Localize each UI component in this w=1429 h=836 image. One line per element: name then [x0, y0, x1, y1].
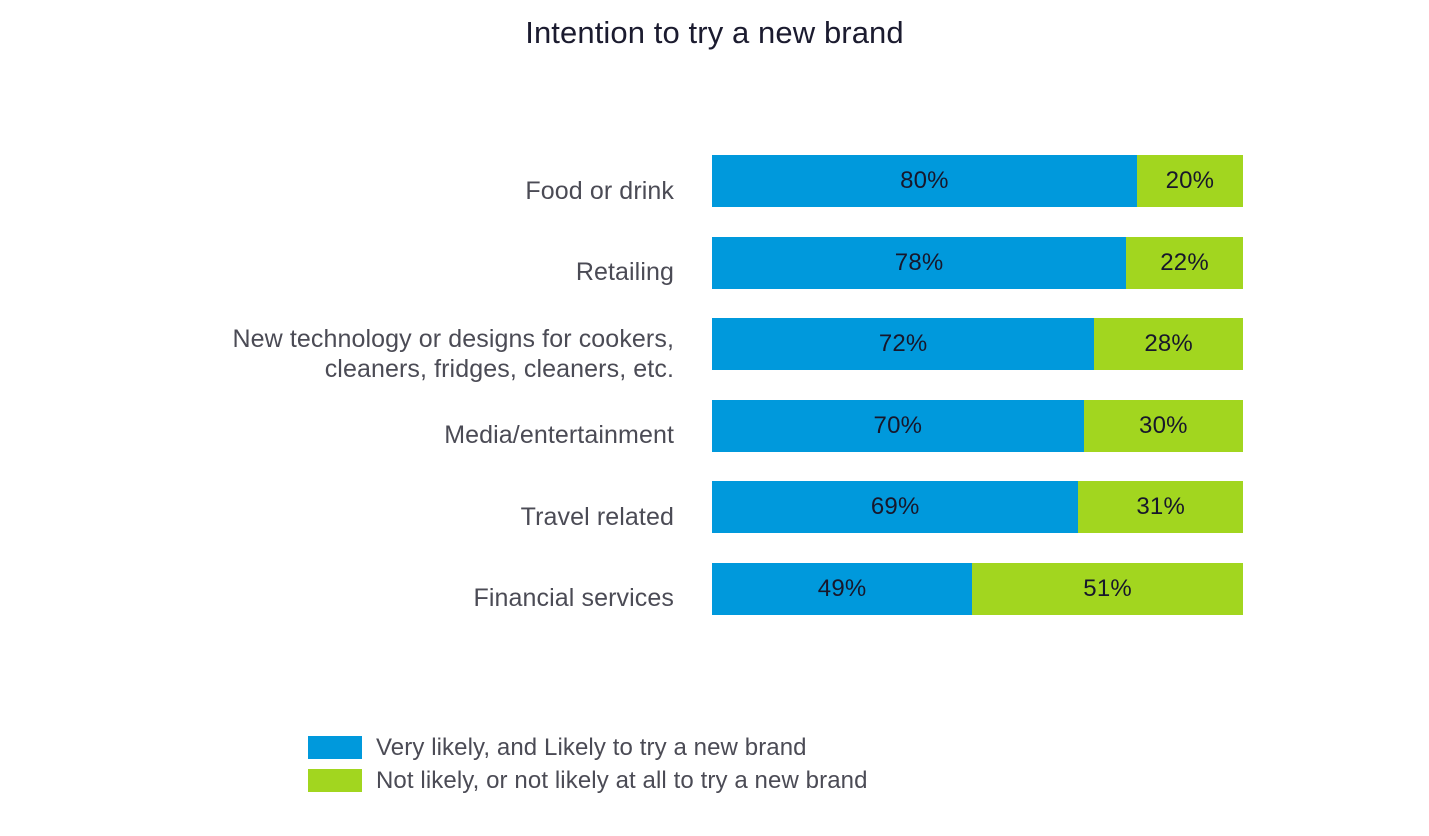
- bar-row: Retailing78%22%: [0, 232, 1429, 314]
- bar-row: New technology or designs for cookers,cl…: [0, 313, 1429, 395]
- legend-item: Not likely, or not likely at all to try …: [308, 764, 868, 797]
- bar-segment-likely: 78%: [712, 237, 1126, 289]
- category-label: Media/entertainment: [134, 420, 674, 450]
- stacked-bar: 78%22%: [712, 237, 1243, 289]
- stacked-bar: 49%51%: [712, 563, 1243, 615]
- bar-segment-not-likely: 31%: [1078, 481, 1243, 533]
- category-label-line: Financial services: [134, 583, 674, 613]
- bar-segment-not-likely: 30%: [1084, 400, 1243, 452]
- bar-row: Financial services49%51%: [0, 558, 1429, 640]
- category-label-line: Food or drink: [134, 176, 674, 206]
- chart-legend: Very likely, and Likely to try a new bra…: [308, 731, 868, 797]
- bar-row: Food or drink80%20%: [0, 150, 1429, 232]
- legend-label: Very likely, and Likely to try a new bra…: [376, 734, 807, 762]
- category-label-line: cleaners, fridges, cleaners, etc.: [134, 354, 674, 384]
- category-label-line: Retailing: [134, 257, 674, 287]
- bar-segment-not-likely: 28%: [1094, 318, 1243, 370]
- bar-segment-likely: 69%: [712, 481, 1078, 533]
- category-label: Retailing: [134, 257, 674, 287]
- legend-swatch-green: [308, 769, 362, 792]
- bar-row: Media/entertainment70%30%: [0, 395, 1429, 477]
- legend-label: Not likely, or not likely at all to try …: [376, 767, 868, 795]
- stacked-bar: 70%30%: [712, 400, 1243, 452]
- chart-container: Intention to try a new brand Food or dri…: [0, 0, 1429, 836]
- bar-segment-not-likely: 22%: [1126, 237, 1243, 289]
- category-label: New technology or designs for cookers,cl…: [134, 324, 674, 384]
- category-label: Travel related: [134, 502, 674, 532]
- chart-title: Intention to try a new brand: [0, 14, 1429, 51]
- stacked-bar: 72%28%: [712, 318, 1243, 370]
- legend-item: Very likely, and Likely to try a new bra…: [308, 731, 868, 764]
- bar-segment-likely: 70%: [712, 400, 1084, 452]
- bar-segment-likely: 80%: [712, 155, 1137, 207]
- bar-segment-likely: 72%: [712, 318, 1094, 370]
- category-label-line: New technology or designs for cookers,: [134, 324, 674, 354]
- category-label-line: Media/entertainment: [134, 420, 674, 450]
- category-label: Financial services: [134, 583, 674, 613]
- bar-segment-likely: 49%: [712, 563, 972, 615]
- category-label-line: Travel related: [134, 502, 674, 532]
- stacked-bar: 80%20%: [712, 155, 1243, 207]
- category-label: Food or drink: [134, 176, 674, 206]
- bar-segment-not-likely: 51%: [972, 563, 1243, 615]
- bar-segment-not-likely: 20%: [1137, 155, 1243, 207]
- legend-swatch-blue: [308, 736, 362, 759]
- bar-row: Travel related69%31%: [0, 476, 1429, 558]
- stacked-bar: 69%31%: [712, 481, 1243, 533]
- plot-area: Food or drink80%20%Retailing78%22%New te…: [0, 150, 1429, 639]
